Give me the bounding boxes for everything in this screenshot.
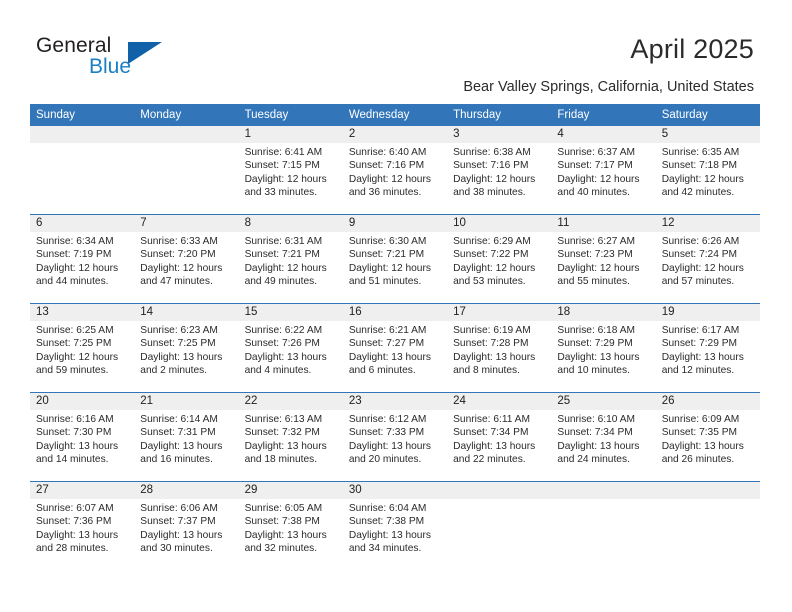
day-number: 10	[447, 215, 551, 232]
day-cell[interactable]: 22 Sunrise: 6:13 AM Sunset: 7:32 PM Dayl…	[239, 393, 343, 482]
sunset-text: Sunset: 7:19 PM	[36, 248, 130, 261]
day-number: 15	[239, 304, 343, 321]
day-number: 13	[30, 304, 134, 321]
calendar-page: General Blue April 2025 Bear Valley Spri…	[0, 0, 792, 612]
daylight-text-line1: Daylight: 12 hours	[453, 262, 547, 275]
day-cell[interactable]: 5 Sunrise: 6:35 AM Sunset: 7:18 PM Dayli…	[656, 126, 760, 215]
day-cell[interactable]: 18 Sunrise: 6:18 AM Sunset: 7:29 PM Dayl…	[551, 304, 655, 393]
daylight-text-line2: and 59 minutes.	[36, 364, 130, 377]
sunrise-text: Sunrise: 6:31 AM	[245, 235, 339, 248]
day-number: 25	[551, 393, 655, 410]
day-cell[interactable]: 27 Sunrise: 6:07 AM Sunset: 7:36 PM Dayl…	[30, 482, 134, 579]
sunrise-text: Sunrise: 6:19 AM	[453, 324, 547, 337]
day-info: Sunrise: 6:27 AM Sunset: 7:23 PM Dayligh…	[551, 232, 655, 289]
day-info: Sunrise: 6:37 AM Sunset: 7:17 PM Dayligh…	[551, 143, 655, 200]
day-cell[interactable]: 13 Sunrise: 6:25 AM Sunset: 7:25 PM Dayl…	[30, 304, 134, 393]
day-number: 5	[656, 126, 760, 143]
day-info: Sunrise: 6:13 AM Sunset: 7:32 PM Dayligh…	[239, 410, 343, 467]
sunrise-text: Sunrise: 6:17 AM	[662, 324, 756, 337]
daylight-text-line2: and 47 minutes.	[140, 275, 234, 288]
day-info: Sunrise: 6:05 AM Sunset: 7:38 PM Dayligh…	[239, 499, 343, 556]
daylight-text-line1: Daylight: 12 hours	[245, 173, 339, 186]
sunset-text: Sunset: 7:33 PM	[349, 426, 443, 439]
daylight-text-line2: and 18 minutes.	[245, 453, 339, 466]
day-cell[interactable]: 20 Sunrise: 6:16 AM Sunset: 7:30 PM Dayl…	[30, 393, 134, 482]
weekday-header-friday: Friday	[551, 104, 655, 126]
day-cell[interactable]: 25 Sunrise: 6:10 AM Sunset: 7:34 PM Dayl…	[551, 393, 655, 482]
sunset-text: Sunset: 7:22 PM	[453, 248, 547, 261]
day-number: 9	[343, 215, 447, 232]
calendar-table: Sunday Monday Tuesday Wednesday Thursday…	[30, 104, 760, 578]
day-number: 18	[551, 304, 655, 321]
daylight-text-line2: and 55 minutes.	[557, 275, 651, 288]
daylight-text-line1: Daylight: 13 hours	[453, 351, 547, 364]
day-number: 11	[551, 215, 655, 232]
day-info: Sunrise: 6:29 AM Sunset: 7:22 PM Dayligh…	[447, 232, 551, 289]
day-number: 4	[551, 126, 655, 143]
daylight-text-line2: and 44 minutes.	[36, 275, 130, 288]
day-info: Sunrise: 6:16 AM Sunset: 7:30 PM Dayligh…	[30, 410, 134, 467]
day-cell[interactable]: 6 Sunrise: 6:34 AM Sunset: 7:19 PM Dayli…	[30, 215, 134, 304]
day-cell[interactable]: 30 Sunrise: 6:04 AM Sunset: 7:38 PM Dayl…	[343, 482, 447, 579]
day-info: Sunrise: 6:21 AM Sunset: 7:27 PM Dayligh…	[343, 321, 447, 378]
sunset-text: Sunset: 7:28 PM	[453, 337, 547, 350]
triangle-logo-icon	[128, 42, 162, 64]
daylight-text-line2: and 10 minutes.	[557, 364, 651, 377]
sunrise-text: Sunrise: 6:11 AM	[453, 413, 547, 426]
day-cell[interactable]: 29 Sunrise: 6:05 AM Sunset: 7:38 PM Dayl…	[239, 482, 343, 579]
day-cell[interactable]: 12 Sunrise: 6:26 AM Sunset: 7:24 PM Dayl…	[656, 215, 760, 304]
sunset-text: Sunset: 7:15 PM	[245, 159, 339, 172]
sunset-text: Sunset: 7:34 PM	[557, 426, 651, 439]
day-info: Sunrise: 6:40 AM Sunset: 7:16 PM Dayligh…	[343, 143, 447, 200]
sunrise-text: Sunrise: 6:07 AM	[36, 502, 130, 515]
sunset-text: Sunset: 7:29 PM	[557, 337, 651, 350]
sunrise-text: Sunrise: 6:05 AM	[245, 502, 339, 515]
daylight-text-line1: Daylight: 13 hours	[349, 351, 443, 364]
page-header: General Blue April 2025 Bear Valley Spri…	[0, 0, 792, 100]
daylight-text-line2: and 42 minutes.	[662, 186, 756, 199]
sunset-text: Sunset: 7:36 PM	[36, 515, 130, 528]
sunset-text: Sunset: 7:25 PM	[36, 337, 130, 350]
day-info: Sunrise: 6:26 AM Sunset: 7:24 PM Dayligh…	[656, 232, 760, 289]
calendar-week-row: 1 Sunrise: 6:41 AM Sunset: 7:15 PM Dayli…	[30, 126, 760, 215]
sunrise-text: Sunrise: 6:29 AM	[453, 235, 547, 248]
daylight-text-line2: and 28 minutes.	[36, 542, 130, 555]
sunrise-text: Sunrise: 6:40 AM	[349, 146, 443, 159]
day-info: Sunrise: 6:09 AM Sunset: 7:35 PM Dayligh…	[656, 410, 760, 467]
sunrise-text: Sunrise: 6:09 AM	[662, 413, 756, 426]
sunset-text: Sunset: 7:16 PM	[453, 159, 547, 172]
day-number: 27	[30, 482, 134, 499]
day-cell[interactable]: 17 Sunrise: 6:19 AM Sunset: 7:28 PM Dayl…	[447, 304, 551, 393]
sunset-text: Sunset: 7:26 PM	[245, 337, 339, 350]
daylight-text-line2: and 53 minutes.	[453, 275, 547, 288]
sunset-text: Sunset: 7:21 PM	[349, 248, 443, 261]
day-info: Sunrise: 6:04 AM Sunset: 7:38 PM Dayligh…	[343, 499, 447, 556]
sunrise-text: Sunrise: 6:10 AM	[557, 413, 651, 426]
daylight-text-line2: and 26 minutes.	[662, 453, 756, 466]
sunset-text: Sunset: 7:37 PM	[140, 515, 234, 528]
sunset-text: Sunset: 7:18 PM	[662, 159, 756, 172]
day-number: 12	[656, 215, 760, 232]
day-cell[interactable]: 4 Sunrise: 6:37 AM Sunset: 7:17 PM Dayli…	[551, 126, 655, 215]
sunset-text: Sunset: 7:23 PM	[557, 248, 651, 261]
daylight-text-line2: and 22 minutes.	[453, 453, 547, 466]
daylight-text-line2: and 34 minutes.	[349, 542, 443, 555]
daylight-text-line1: Daylight: 13 hours	[36, 440, 130, 453]
daylight-text-line2: and 4 minutes.	[245, 364, 339, 377]
sunrise-text: Sunrise: 6:33 AM	[140, 235, 234, 248]
sunset-text: Sunset: 7:17 PM	[557, 159, 651, 172]
day-info: Sunrise: 6:23 AM Sunset: 7:25 PM Dayligh…	[134, 321, 238, 378]
sunrise-text: Sunrise: 6:37 AM	[557, 146, 651, 159]
day-number: 30	[343, 482, 447, 499]
daylight-text-line1: Daylight: 13 hours	[36, 529, 130, 542]
day-info: Sunrise: 6:18 AM Sunset: 7:29 PM Dayligh…	[551, 321, 655, 378]
day-cell[interactable]: 24 Sunrise: 6:11 AM Sunset: 7:34 PM Dayl…	[447, 393, 551, 482]
daylight-text-line2: and 49 minutes.	[245, 275, 339, 288]
sunrise-text: Sunrise: 6:16 AM	[36, 413, 130, 426]
daylight-text-line2: and 6 minutes.	[349, 364, 443, 377]
daylight-text-line2: and 33 minutes.	[245, 186, 339, 199]
day-info: Sunrise: 6:19 AM Sunset: 7:28 PM Dayligh…	[447, 321, 551, 378]
day-info: Sunrise: 6:31 AM Sunset: 7:21 PM Dayligh…	[239, 232, 343, 289]
day-cell[interactable]	[30, 126, 134, 215]
daylight-text-line1: Daylight: 13 hours	[245, 440, 339, 453]
sunset-text: Sunset: 7:38 PM	[349, 515, 443, 528]
day-number: 17	[447, 304, 551, 321]
day-number: 26	[656, 393, 760, 410]
day-cell[interactable]: 19 Sunrise: 6:17 AM Sunset: 7:29 PM Dayl…	[656, 304, 760, 393]
sunrise-text: Sunrise: 6:12 AM	[349, 413, 443, 426]
sunrise-text: Sunrise: 6:35 AM	[662, 146, 756, 159]
day-number: 16	[343, 304, 447, 321]
day-cell[interactable]: 7 Sunrise: 6:33 AM Sunset: 7:20 PM Dayli…	[134, 215, 238, 304]
day-cell[interactable]	[134, 126, 238, 215]
sunset-text: Sunset: 7:29 PM	[662, 337, 756, 350]
calendar-week-row: 13 Sunrise: 6:25 AM Sunset: 7:25 PM Dayl…	[30, 304, 760, 393]
daylight-text-line2: and 20 minutes.	[349, 453, 443, 466]
daylight-text-line2: and 40 minutes.	[557, 186, 651, 199]
day-info: Sunrise: 6:30 AM Sunset: 7:21 PM Dayligh…	[343, 232, 447, 289]
daylight-text-line1: Daylight: 12 hours	[557, 262, 651, 275]
daylight-text-line1: Daylight: 12 hours	[557, 173, 651, 186]
daylight-text-line2: and 8 minutes.	[453, 364, 547, 377]
sunrise-text: Sunrise: 6:38 AM	[453, 146, 547, 159]
calendar-week-row: 6 Sunrise: 6:34 AM Sunset: 7:19 PM Dayli…	[30, 215, 760, 304]
location-subtitle: Bear Valley Springs, California, United …	[463, 79, 754, 95]
weekday-header-sunday: Sunday	[30, 104, 134, 126]
sunrise-text: Sunrise: 6:14 AM	[140, 413, 234, 426]
day-number: 3	[447, 126, 551, 143]
sunset-text: Sunset: 7:24 PM	[662, 248, 756, 261]
daylight-text-line1: Daylight: 12 hours	[662, 262, 756, 275]
sunset-text: Sunset: 7:35 PM	[662, 426, 756, 439]
daylight-text-line1: Daylight: 13 hours	[557, 440, 651, 453]
daylight-text-line1: Daylight: 12 hours	[36, 262, 130, 275]
daylight-text-line1: Daylight: 12 hours	[36, 351, 130, 364]
day-cell[interactable]: 16 Sunrise: 6:21 AM Sunset: 7:27 PM Dayl…	[343, 304, 447, 393]
sunrise-text: Sunrise: 6:22 AM	[245, 324, 339, 337]
day-info: Sunrise: 6:35 AM Sunset: 7:18 PM Dayligh…	[656, 143, 760, 200]
sunrise-text: Sunrise: 6:18 AM	[557, 324, 651, 337]
day-info: Sunrise: 6:25 AM Sunset: 7:25 PM Dayligh…	[30, 321, 134, 378]
day-info: Sunrise: 6:11 AM Sunset: 7:34 PM Dayligh…	[447, 410, 551, 467]
sunset-text: Sunset: 7:30 PM	[36, 426, 130, 439]
day-number: 1	[239, 126, 343, 143]
day-info: Sunrise: 6:17 AM Sunset: 7:29 PM Dayligh…	[656, 321, 760, 378]
day-cell[interactable]	[656, 482, 760, 579]
weekday-header-monday: Monday	[134, 104, 238, 126]
daylight-text-line1: Daylight: 13 hours	[662, 351, 756, 364]
day-info: Sunrise: 6:33 AM Sunset: 7:20 PM Dayligh…	[134, 232, 238, 289]
daylight-text-line1: Daylight: 12 hours	[453, 173, 547, 186]
day-number: 28	[134, 482, 238, 499]
daylight-text-line1: Daylight: 13 hours	[453, 440, 547, 453]
day-cell[interactable]: 23 Sunrise: 6:12 AM Sunset: 7:33 PM Dayl…	[343, 393, 447, 482]
sunrise-text: Sunrise: 6:23 AM	[140, 324, 234, 337]
weekday-header-wednesday: Wednesday	[343, 104, 447, 126]
sunset-text: Sunset: 7:21 PM	[245, 248, 339, 261]
day-info: Sunrise: 6:34 AM Sunset: 7:19 PM Dayligh…	[30, 232, 134, 289]
brand-logo[interactable]: General Blue	[36, 34, 226, 82]
sunrise-text: Sunrise: 6:21 AM	[349, 324, 443, 337]
sunset-text: Sunset: 7:38 PM	[245, 515, 339, 528]
daylight-text-line1: Daylight: 13 hours	[349, 529, 443, 542]
daylight-text-line2: and 16 minutes.	[140, 453, 234, 466]
daylight-text-line1: Daylight: 13 hours	[245, 351, 339, 364]
day-number: 2	[343, 126, 447, 143]
weekday-header-thursday: Thursday	[447, 104, 551, 126]
day-number: 19	[656, 304, 760, 321]
day-number: 7	[134, 215, 238, 232]
weekday-header-tuesday: Tuesday	[239, 104, 343, 126]
day-number: 22	[239, 393, 343, 410]
day-cell[interactable]: 2 Sunrise: 6:40 AM Sunset: 7:16 PM Dayli…	[343, 126, 447, 215]
sunset-text: Sunset: 7:25 PM	[140, 337, 234, 350]
daylight-text-line1: Daylight: 12 hours	[245, 262, 339, 275]
daylight-text-line1: Daylight: 13 hours	[245, 529, 339, 542]
day-cell[interactable]: 15 Sunrise: 6:22 AM Sunset: 7:26 PM Dayl…	[239, 304, 343, 393]
daylight-text-line2: and 38 minutes.	[453, 186, 547, 199]
daylight-text-line1: Daylight: 13 hours	[349, 440, 443, 453]
day-number: 6	[30, 215, 134, 232]
sunset-text: Sunset: 7:20 PM	[140, 248, 234, 261]
weekday-header-saturday: Saturday	[656, 104, 760, 126]
daylight-text-line1: Daylight: 13 hours	[140, 351, 234, 364]
day-cell[interactable]: 10 Sunrise: 6:29 AM Sunset: 7:22 PM Dayl…	[447, 215, 551, 304]
day-number: 14	[134, 304, 238, 321]
day-info: Sunrise: 6:41 AM Sunset: 7:15 PM Dayligh…	[239, 143, 343, 200]
day-cell[interactable]: 8 Sunrise: 6:31 AM Sunset: 7:21 PM Dayli…	[239, 215, 343, 304]
daylight-text-line1: Daylight: 12 hours	[140, 262, 234, 275]
day-number: 29	[239, 482, 343, 499]
day-cell[interactable]: 21 Sunrise: 6:14 AM Sunset: 7:31 PM Dayl…	[134, 393, 238, 482]
daylight-text-line1: Daylight: 13 hours	[557, 351, 651, 364]
sunrise-text: Sunrise: 6:27 AM	[557, 235, 651, 248]
sunrise-text: Sunrise: 6:04 AM	[349, 502, 443, 515]
day-cell[interactable]	[551, 482, 655, 579]
calendar-header-row: Sunday Monday Tuesday Wednesday Thursday…	[30, 104, 760, 126]
day-number: 21	[134, 393, 238, 410]
day-cell[interactable]: 9 Sunrise: 6:30 AM Sunset: 7:21 PM Dayli…	[343, 215, 447, 304]
sunset-text: Sunset: 7:27 PM	[349, 337, 443, 350]
sunrise-text: Sunrise: 6:06 AM	[140, 502, 234, 515]
day-cell[interactable]: 14 Sunrise: 6:23 AM Sunset: 7:25 PM Dayl…	[134, 304, 238, 393]
daylight-text-line1: Daylight: 12 hours	[349, 173, 443, 186]
day-info: Sunrise: 6:12 AM Sunset: 7:33 PM Dayligh…	[343, 410, 447, 467]
sunset-text: Sunset: 7:16 PM	[349, 159, 443, 172]
day-cell[interactable]: 1 Sunrise: 6:41 AM Sunset: 7:15 PM Dayli…	[239, 126, 343, 215]
daylight-text-line2: and 57 minutes.	[662, 275, 756, 288]
sunrise-text: Sunrise: 6:41 AM	[245, 146, 339, 159]
day-cell[interactable]: 26 Sunrise: 6:09 AM Sunset: 7:35 PM Dayl…	[656, 393, 760, 482]
day-number: 8	[239, 215, 343, 232]
day-cell[interactable]: 28 Sunrise: 6:06 AM Sunset: 7:37 PM Dayl…	[134, 482, 238, 579]
day-number	[551, 482, 655, 499]
day-info: Sunrise: 6:22 AM Sunset: 7:26 PM Dayligh…	[239, 321, 343, 378]
day-number	[134, 126, 238, 143]
sunrise-text: Sunrise: 6:13 AM	[245, 413, 339, 426]
day-number: 24	[447, 393, 551, 410]
calendar-week-row: 20 Sunrise: 6:16 AM Sunset: 7:30 PM Dayl…	[30, 393, 760, 482]
daylight-text-line2: and 51 minutes.	[349, 275, 443, 288]
sunset-text: Sunset: 7:31 PM	[140, 426, 234, 439]
daylight-text-line2: and 24 minutes.	[557, 453, 651, 466]
sunrise-text: Sunrise: 6:25 AM	[36, 324, 130, 337]
daylight-text-line2: and 30 minutes.	[140, 542, 234, 555]
sunset-text: Sunset: 7:32 PM	[245, 426, 339, 439]
daylight-text-line2: and 36 minutes.	[349, 186, 443, 199]
page-title: April 2025	[630, 34, 754, 65]
day-cell[interactable]: 3 Sunrise: 6:38 AM Sunset: 7:16 PM Dayli…	[447, 126, 551, 215]
sunrise-text: Sunrise: 6:30 AM	[349, 235, 443, 248]
day-info: Sunrise: 6:07 AM Sunset: 7:36 PM Dayligh…	[30, 499, 134, 556]
day-number	[447, 482, 551, 499]
day-info: Sunrise: 6:38 AM Sunset: 7:16 PM Dayligh…	[447, 143, 551, 200]
day-info: Sunrise: 6:14 AM Sunset: 7:31 PM Dayligh…	[134, 410, 238, 467]
calendar-body: 1 Sunrise: 6:41 AM Sunset: 7:15 PM Dayli…	[30, 126, 760, 578]
sunrise-text: Sunrise: 6:34 AM	[36, 235, 130, 248]
day-number	[30, 126, 134, 143]
sunset-text: Sunset: 7:34 PM	[453, 426, 547, 439]
daylight-text-line2: and 12 minutes.	[662, 364, 756, 377]
day-cell[interactable]	[447, 482, 551, 579]
sunrise-text: Sunrise: 6:26 AM	[662, 235, 756, 248]
day-number: 23	[343, 393, 447, 410]
daylight-text-line1: Daylight: 13 hours	[662, 440, 756, 453]
day-info: Sunrise: 6:06 AM Sunset: 7:37 PM Dayligh…	[134, 499, 238, 556]
daylight-text-line1: Daylight: 12 hours	[662, 173, 756, 186]
day-info: Sunrise: 6:10 AM Sunset: 7:34 PM Dayligh…	[551, 410, 655, 467]
brand-name-blue: Blue	[89, 55, 131, 79]
daylight-text-line1: Daylight: 12 hours	[349, 262, 443, 275]
day-cell[interactable]: 11 Sunrise: 6:27 AM Sunset: 7:23 PM Dayl…	[551, 215, 655, 304]
day-number	[656, 482, 760, 499]
daylight-text-line2: and 2 minutes.	[140, 364, 234, 377]
day-number: 20	[30, 393, 134, 410]
daylight-text-line1: Daylight: 13 hours	[140, 529, 234, 542]
daylight-text-line2: and 14 minutes.	[36, 453, 130, 466]
daylight-text-line2: and 32 minutes.	[245, 542, 339, 555]
daylight-text-line1: Daylight: 13 hours	[140, 440, 234, 453]
calendar-week-row: 27 Sunrise: 6:07 AM Sunset: 7:36 PM Dayl…	[30, 482, 760, 579]
